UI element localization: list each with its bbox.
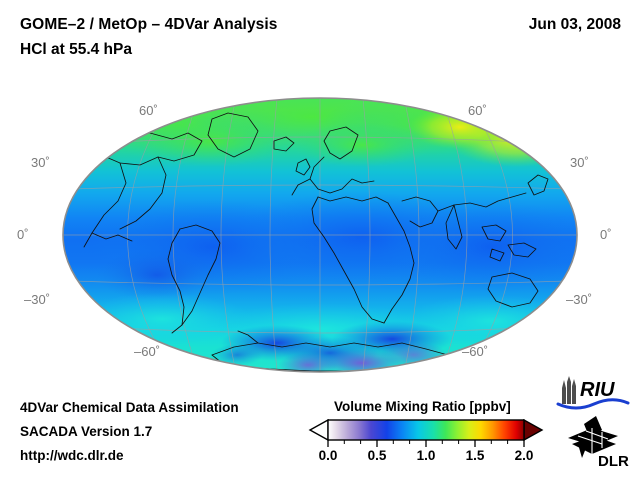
lat-label-right-0: 0˚ (600, 227, 612, 242)
lat-label-right-minus60: –60˚ (462, 344, 488, 359)
lat-label-right-60: 60˚ (468, 103, 487, 118)
mollweide-globe (62, 97, 578, 373)
lat-label-left-minus30: –30˚ (24, 292, 50, 307)
lat-label-left-0: 0˚ (17, 227, 29, 242)
colorbar-tick-labels: 0.0 0.5 1.0 1.5 2.0 (308, 448, 544, 466)
riu-wordmark: RIU (580, 379, 615, 401)
lat-label-left-60: 60˚ (139, 103, 158, 118)
dlr-logo: DLR (562, 414, 634, 468)
lat-label-right-minus30: –30˚ (566, 292, 592, 307)
colorbar (308, 419, 544, 441)
colorbar-tick-1: 0.5 (368, 448, 387, 463)
colorbar-tick-2: 1.0 (417, 448, 436, 463)
colorbar-gradient (328, 420, 524, 440)
riu-tower-icon (562, 376, 576, 404)
colorbar-cap-high (524, 420, 542, 440)
riu-logo: RIU (556, 376, 630, 412)
footer-line-assimilation: 4DVar Chemical Data Assimilation (20, 400, 239, 415)
footer-line-url[interactable]: http://wdc.dlr.de (20, 448, 124, 463)
colorbar-cap-low (310, 420, 328, 440)
lat-label-right-30: 30˚ (570, 155, 589, 170)
colorbar-tick-3: 1.5 (466, 448, 485, 463)
lat-label-left-30: 30˚ (31, 155, 50, 170)
colorbar-tick-0: 0.0 (319, 448, 338, 463)
footer-line-version: SACADA Version 1.7 (20, 424, 152, 439)
colorbar-tick-4: 2.0 (515, 448, 534, 463)
lat-label-left-minus60: –60˚ (134, 344, 160, 359)
dlr-bird-icon (568, 416, 618, 458)
dlr-wordmark: DLR (598, 453, 629, 468)
colorbar-title: Volume Mixing Ratio [ppbv] (334, 399, 511, 414)
